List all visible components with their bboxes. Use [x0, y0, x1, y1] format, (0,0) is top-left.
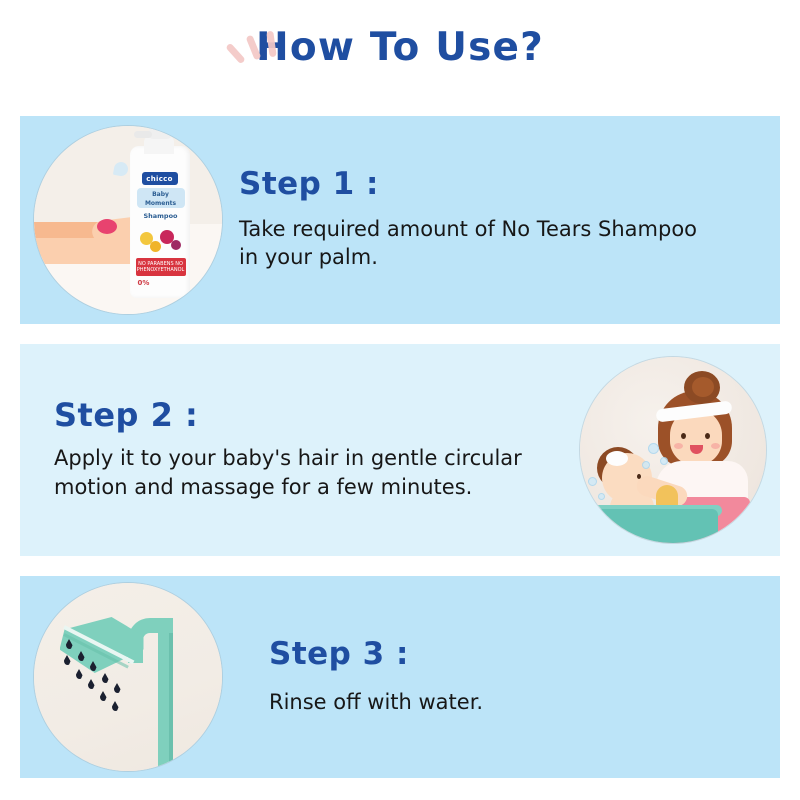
step-3-artwork-cell [20, 576, 235, 778]
flower-illustration-icon [138, 228, 186, 254]
step-panel-1: chicco Baby Moments Shampoo NO PARABENS … [20, 116, 780, 324]
step-1-body: Take required amount of No Tears Shampoo… [239, 215, 719, 272]
step-1-text-cell: Step 1 : Take required amount of No Tear… [235, 168, 780, 271]
shower-head-image [34, 583, 222, 771]
bottle-brand-label: chicco [142, 172, 178, 185]
page-header: How To Use? [0, 28, 800, 98]
step-panel-2: Step 2 : Apply it to your baby's hair in… [20, 344, 780, 556]
step-2-body: Apply it to your baby's hair in gentle c… [54, 444, 534, 501]
step-3-body: Rinse off with water. [269, 688, 749, 716]
bottle-product-label: Shampoo [138, 212, 184, 220]
step-3-heading: Step 3 : [269, 638, 780, 671]
step-1-artwork-cell: chicco Baby Moments Shampoo NO PARABENS … [20, 116, 235, 324]
page-title: How To Use? [0, 28, 800, 67]
bottle-claim-label: 0% [138, 279, 150, 287]
step-3-text-cell: Step 3 : Rinse off with water. [235, 638, 780, 717]
step-1-heading: Step 1 : [239, 168, 780, 201]
fingernail [97, 219, 117, 234]
bottle-badge-label: NO PARABENS NO PHENOXYETHANOL [136, 258, 186, 276]
bottle-line-label: Baby Moments [137, 188, 185, 208]
step-2-heading: Step 2 : [54, 399, 565, 433]
step-2-artwork-cell [565, 344, 780, 556]
step-panel-3: Step 3 : Rinse off with water. [20, 576, 780, 778]
bath-tub-icon [590, 509, 718, 543]
shampoo-foam-icon [606, 451, 628, 466]
how-to-use-infographic: How To Use? chicco Baby Moments Shampoo [0, 0, 800, 800]
hand-with-shampoo-bottle-image: chicco Baby Moments Shampoo NO PARABENS … [34, 126, 222, 314]
step-2-text-cell: Step 2 : Apply it to your baby's hair in… [20, 399, 565, 501]
mother-bathing-baby-image [580, 357, 766, 543]
sparkle-decoration-icon [228, 28, 292, 70]
